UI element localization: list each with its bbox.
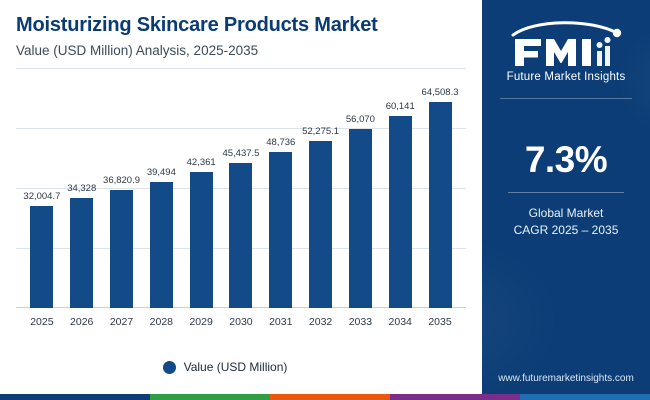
plot-area: 32,004.734,32836,820.939,49442,36145,437… [16,68,466,338]
bar-column: 34,328 [62,68,102,308]
bar-value-label: 56,070 [346,114,375,125]
bar-value-label: 48,736 [266,137,295,148]
bottom-color-strip [0,394,650,400]
bar [309,141,332,308]
x-tick-label: 2035 [420,308,460,328]
cagr-rule [508,192,624,193]
legend-marker-icon [163,361,176,374]
bar-value-label: 39,494 [147,167,176,178]
cagr-caption-line2: CAGR 2025 – 2035 [482,222,650,239]
x-axis-ticks: 2025202620272028202920302031203220332034… [16,308,466,338]
bar-column: 48,736 [261,68,301,308]
bar-value-label: 42,361 [187,157,216,168]
bar [389,116,412,308]
strip-segment [150,394,270,400]
strip-segment [520,394,650,400]
bar-column: 36,820.9 [102,68,142,308]
bar [349,129,372,308]
chart-panel: Moisturizing Skincare Products Market Va… [0,0,482,400]
strip-segment [390,394,520,400]
bar-value-label: 64,508.3 [422,87,459,98]
bar-column: 42,361 [181,68,221,308]
chart-infographic: Moisturizing Skincare Products Market Va… [0,0,650,400]
x-tick-label: 2034 [380,308,420,328]
bar-value-label: 45,437.5 [222,148,259,159]
bar [150,182,173,308]
cagr-caption-line1: Global Market [482,205,650,222]
bar-column: 60,141 [380,68,420,308]
logo-subtitle: Future Market Insights [507,71,626,83]
bar-column: 39,494 [141,68,181,308]
x-tick-label: 2031 [261,308,301,328]
strip-segment [0,394,150,400]
bar [429,102,452,308]
bar-value-label: 36,820.9 [103,175,140,186]
bar [229,163,252,308]
x-tick-label: 2033 [341,308,381,328]
bar-value-label: 60,141 [386,101,415,112]
bar [190,172,213,308]
bar-column: 64,508.3 [420,68,460,308]
bar-value-label: 52,275.1 [302,126,339,137]
bar [269,152,292,308]
legend-label: Value (USD Million) [184,360,288,374]
cagr-value: 7.3% [482,141,650,178]
page-subtitle: Value (USD Million) Analysis, 2025-2035 [16,43,466,58]
website-url: www.futuremarketinsights.com [482,373,650,384]
brand-divider [500,98,632,99]
x-tick-label: 2027 [102,308,142,328]
chart-legend: Value (USD Million) [0,360,450,374]
bar-column: 56,070 [341,68,381,308]
bar [70,198,93,308]
brand-panel: Future Market Insights 7.3% Global Marke… [482,0,650,400]
x-tick-label: 2030 [221,308,261,328]
bar-value-label: 34,328 [67,183,96,194]
page-title: Moisturizing Skincare Products Market [16,14,466,36]
x-tick-label: 2028 [141,308,181,328]
bar-column: 45,437.5 [221,68,261,308]
bar [110,190,133,308]
bar [30,206,53,308]
x-tick-label: 2032 [301,308,341,328]
fmi-logo-icon [505,21,627,67]
bar-column: 32,004.7 [22,68,62,308]
bar-column: 52,275.1 [301,68,341,308]
cagr-block: 7.3% Global Market CAGR 2025 – 2035 [482,141,650,240]
x-tick-label: 2025 [22,308,62,328]
fmi-logo: Future Market Insights [482,0,650,96]
x-tick-label: 2026 [62,308,102,328]
strip-segment [270,394,390,400]
bar-value-label: 32,004.7 [23,191,60,202]
bar-series: 32,004.734,32836,820.939,49442,36145,437… [16,68,466,308]
x-tick-label: 2029 [181,308,221,328]
